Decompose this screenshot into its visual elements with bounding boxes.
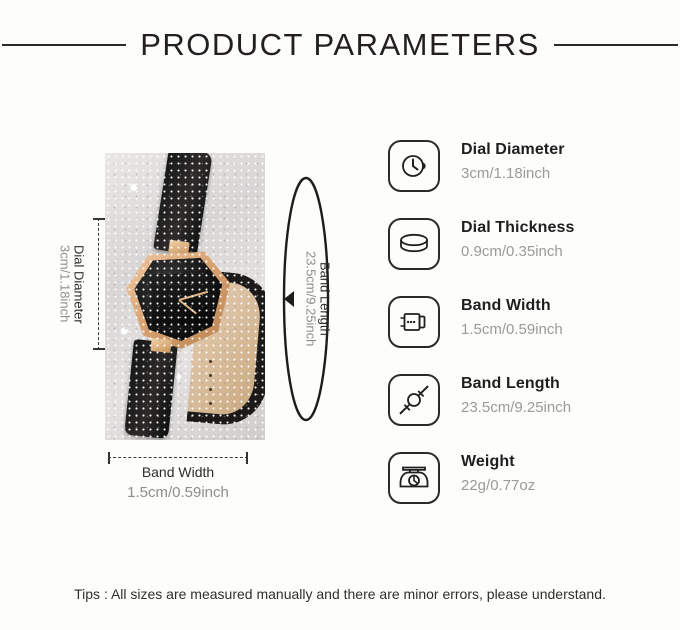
spec-row-band-length: Band Length 23.5cm/9.25inch xyxy=(388,372,668,450)
gauge-dashed-line xyxy=(98,218,99,350)
kitchen-scale-icon xyxy=(388,452,440,504)
band-length-annotation-value: 23.5cm/9.25inch xyxy=(305,251,318,346)
spec-label: Dial Thickness xyxy=(461,217,574,239)
watch-band-icon xyxy=(388,296,440,348)
disc-thickness-icon xyxy=(388,218,440,270)
page-title: PRODUCT PARAMETERS xyxy=(140,27,540,63)
watch-dial xyxy=(133,257,225,343)
watch-face-icon xyxy=(388,140,440,192)
band-length-annotation: Band Length 23.5cm/9.25inch xyxy=(296,168,340,430)
band-width-annotation-value: 1.5cm/0.59inch xyxy=(78,482,278,504)
spec-row-dial-diameter: Dial Diameter 3cm/1.18inch xyxy=(388,138,668,216)
spec-text-band-length: Band Length 23.5cm/9.25inch xyxy=(461,372,571,419)
watch-lug-bottom xyxy=(150,338,171,353)
spec-row-weight: Weight 22g/0.77oz xyxy=(388,450,668,528)
product-photo xyxy=(105,153,265,440)
watch-band-holes xyxy=(209,349,217,419)
title-rule-right xyxy=(554,44,678,46)
product-photo-image xyxy=(105,153,265,440)
watch-dial-inner xyxy=(150,272,209,327)
tips-note: Tips : All sizes are measured manually a… xyxy=(0,586,680,602)
spec-text-weight: Weight 22g/0.77oz xyxy=(461,450,535,497)
spec-text-dial-thickness: Dial Thickness 0.9cm/0.35inch xyxy=(461,216,574,263)
watch-hand-minute xyxy=(179,291,208,301)
watch-band-top xyxy=(153,153,213,256)
dial-diameter-annotation-value: 3cm/1.18inch xyxy=(59,245,72,322)
spec-value: 22g/0.77oz xyxy=(461,475,535,497)
band-width-annotation: Band Width 1.5cm/0.59inch xyxy=(78,462,278,504)
watch-band-bottom xyxy=(124,339,178,439)
page-header: PRODUCT PARAMETERS xyxy=(0,22,680,68)
spec-label: Band Length xyxy=(461,373,571,395)
band-length-arrowhead xyxy=(284,291,294,307)
spec-value: 23.5cm/9.25inch xyxy=(461,397,571,419)
dial-diameter-annotation: Dial Diameter 3cm/1.18inch xyxy=(52,218,92,350)
watch-lug-top xyxy=(168,240,190,256)
spec-value: 3cm/1.18inch xyxy=(461,163,565,185)
spec-value: 1.5cm/0.59inch xyxy=(461,319,563,341)
spec-label: Dial Diameter xyxy=(461,139,565,161)
watch-case xyxy=(125,250,234,351)
gauge-dashed-line-horizontal xyxy=(108,457,248,458)
spec-label: Band Width xyxy=(461,295,563,317)
watch-hand-hour xyxy=(178,299,197,314)
spec-row-dial-thickness: Dial Thickness 0.9cm/0.35inch xyxy=(388,216,668,294)
spec-row-band-width: Band Width 1.5cm/0.59inch xyxy=(388,294,668,372)
spec-list: Dial Diameter 3cm/1.18inch Dial Thicknes… xyxy=(388,138,668,528)
spec-label: Weight xyxy=(461,451,535,473)
watch-illustration xyxy=(105,153,265,440)
spec-text-band-width: Band Width 1.5cm/0.59inch xyxy=(461,294,563,341)
spec-text-dial-diameter: Dial Diameter 3cm/1.18inch xyxy=(461,138,565,185)
band-width-annotation-label: Band Width xyxy=(78,462,278,482)
spec-value: 0.9cm/0.35inch xyxy=(461,241,574,263)
gauge-cap-top xyxy=(93,218,105,220)
title-rule-left xyxy=(2,44,126,46)
dial-diameter-annotation-label: Dial Diameter xyxy=(73,245,86,324)
band-length-annotation-label: Band Length xyxy=(319,262,332,336)
dial-diameter-gauge xyxy=(93,218,105,350)
watch-strap-diagonal-icon xyxy=(388,374,440,426)
watch-band-loop xyxy=(187,270,265,428)
gauge-cap-bottom xyxy=(93,348,105,350)
